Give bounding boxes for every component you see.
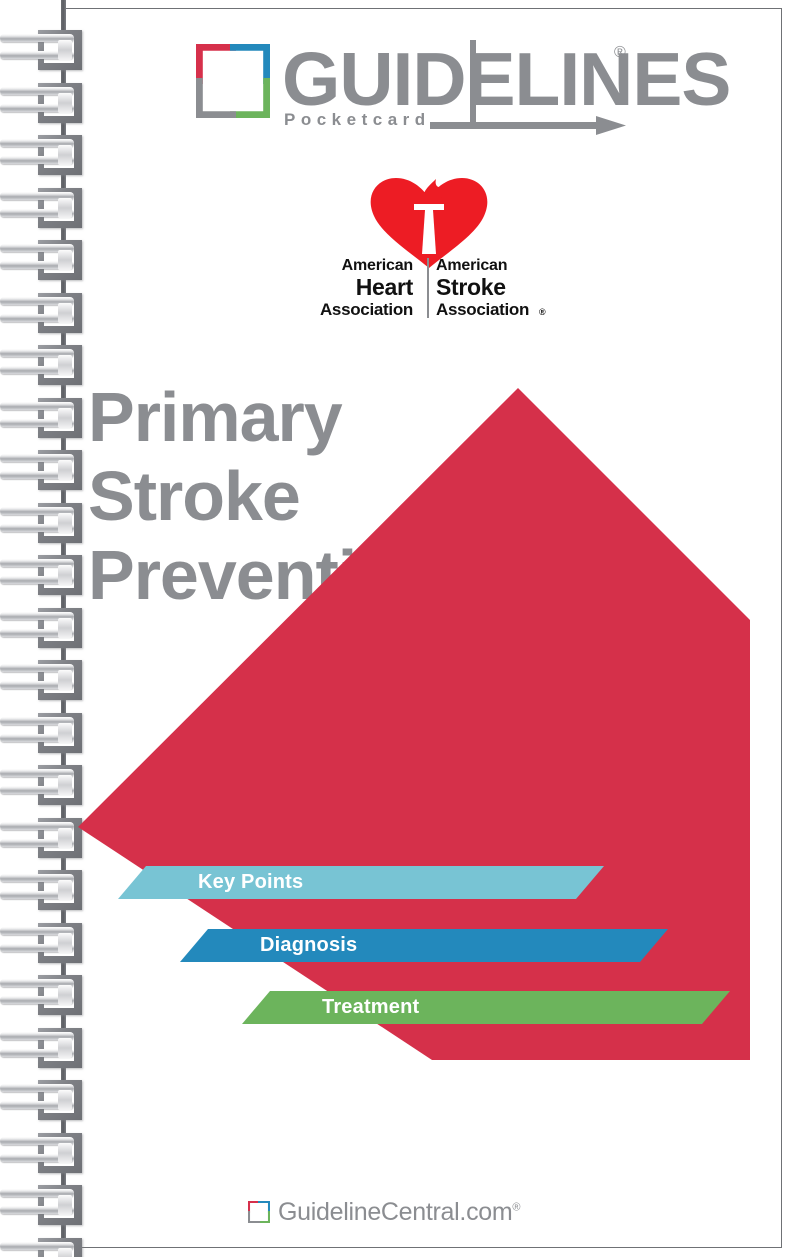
guidelines-registered-mark: ®: [614, 44, 626, 62]
footer-website-link[interactable]: GuidelineCentral.com®: [278, 1198, 520, 1227]
section-bar-label: Treatment: [322, 991, 419, 1024]
section-bar-fill: [180, 929, 668, 962]
binding-coil: [0, 1183, 92, 1229]
section-bar[interactable]: Key Points: [118, 866, 604, 899]
binding-coil: [0, 238, 92, 284]
aha-asa-logo: American Heart Association American Stro…: [303, 176, 555, 322]
heart-torch-icon: [362, 176, 496, 268]
binding-coil: [0, 291, 92, 337]
wordmark-divider: [470, 40, 476, 128]
pinwheel-green-quadrant: [230, 78, 270, 118]
arrow-icon: [430, 116, 626, 134]
aha-line-association: Association: [303, 300, 413, 320]
aha-line-american: American: [303, 256, 413, 275]
section-bar-label: Key Points: [198, 866, 303, 899]
binding-coil: [0, 1131, 92, 1177]
footer-registered-mark: ®: [512, 1202, 520, 1214]
aha-asa-text: American Heart Association American Stro…: [303, 256, 555, 322]
asa-registered-mark: ®: [539, 307, 546, 317]
section-bar[interactable]: Diagnosis: [180, 929, 668, 962]
footer-branding[interactable]: GuidelineCentral.com®: [248, 1196, 568, 1230]
asa-line-stroke: Stroke: [436, 275, 546, 300]
pocketcard-subtitle: Pocketcard: [284, 110, 431, 130]
binding-coil: [0, 1236, 92, 1257]
guidelines-wordmark: GUIDELINES: [282, 38, 730, 120]
binding-coil: [0, 133, 92, 179]
section-bar-fill: [118, 866, 604, 899]
footer-website-text: GuidelineCentral.com: [278, 1198, 512, 1226]
pocketcard-page: GUIDELINES ® Pocketcard American Heart A…: [0, 0, 800, 1257]
section-bar[interactable]: Treatment: [242, 991, 730, 1024]
guidelines-pinwheel-icon: [196, 44, 270, 118]
binding-coil: [0, 81, 92, 127]
binding-coil: [0, 28, 92, 74]
american-stroke-association-block: American Stroke Association: [436, 256, 546, 320]
guidelines-pinwheel-icon: [248, 1201, 270, 1223]
pinwheel-gray-quadrant: [196, 78, 236, 118]
guidelines-pocketcard-logo: GUIDELINES ® Pocketcard: [196, 38, 632, 134]
american-heart-association-block: American Heart Association: [303, 256, 413, 320]
section-arrow-graphic: Key PointsDiagnosisTreatment: [60, 370, 782, 1090]
binding-coil: [0, 186, 92, 232]
aha-asa-divider: [427, 258, 429, 318]
section-bar-fill: [242, 991, 730, 1024]
asa-line-association: Association: [436, 300, 546, 320]
asa-line-american: American: [436, 256, 546, 275]
section-bar-label: Diagnosis: [260, 929, 357, 962]
aha-line-heart: Heart: [303, 275, 413, 300]
